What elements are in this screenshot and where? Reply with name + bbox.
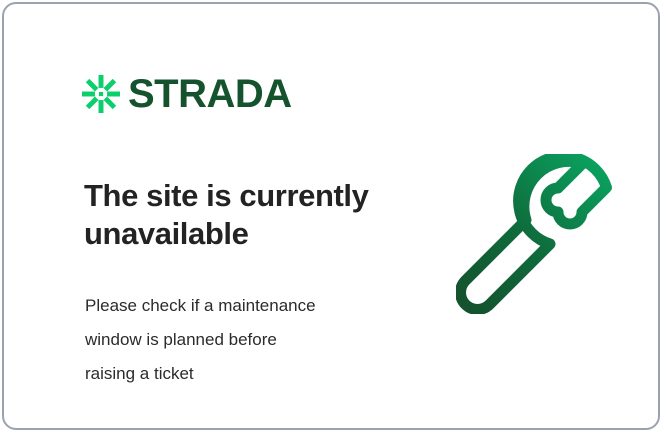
page-description: Please check if a maintenance window is … — [85, 289, 405, 391]
page-description-line-2: window is planned before — [85, 323, 405, 357]
page-title: The site is currently unavailable — [84, 177, 414, 253]
status-page-card: STRADA The site is currently unavailable… — [2, 2, 660, 430]
page-title-line-1: The site is currently — [84, 177, 414, 215]
page-title-line-2: unavailable — [84, 215, 414, 253]
page-description-line-1: Please check if a maintenance — [85, 289, 405, 323]
strada-asterisk-icon — [82, 75, 120, 113]
wrench-icon — [456, 154, 616, 314]
brand-wordmark: STRADA — [128, 74, 292, 114]
page-description-line-3: raising a ticket — [85, 357, 405, 391]
brand-lockup: STRADA — [82, 74, 292, 114]
